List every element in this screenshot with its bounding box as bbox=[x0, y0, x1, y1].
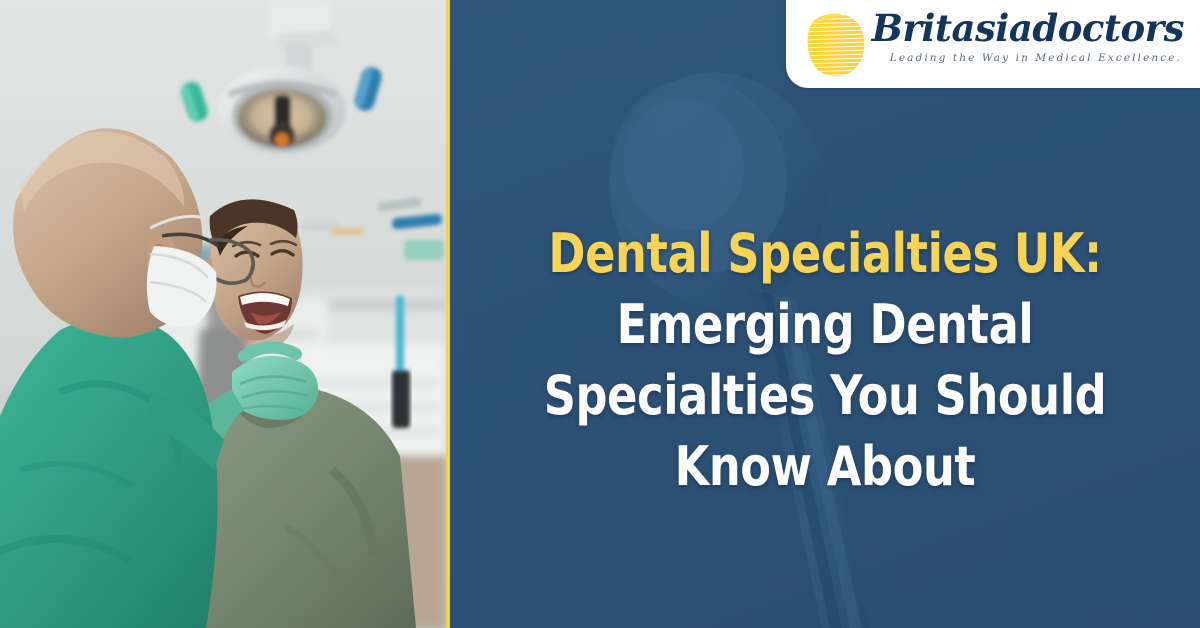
headline-line-4: Know About bbox=[498, 431, 1151, 502]
headline-line-2: Emerging Dental bbox=[498, 289, 1151, 360]
headline-line-3: Specialties You Should bbox=[498, 360, 1151, 431]
gold-divider bbox=[446, 0, 450, 628]
brand-name: Britasiadoctors bbox=[872, 8, 1184, 48]
dental-clinic-illustration bbox=[0, 0, 446, 628]
headline-block: Dental Specialties UK: Emerging Dental S… bbox=[470, 218, 1180, 502]
headline-line-1: Dental Specialties UK: bbox=[498, 218, 1151, 289]
brand-tagline: Leading the Way in Medical Excellence. bbox=[890, 52, 1184, 64]
dental-clinic-photo bbox=[0, 0, 446, 628]
brand-logo-card[interactable]: Britasiadoctors Leading the Way in Medic… bbox=[786, 0, 1200, 88]
britasiadoctors-emblem-icon bbox=[800, 10, 870, 82]
social-share-banner: Britasiadoctors Leading the Way in Medic… bbox=[0, 0, 1200, 628]
